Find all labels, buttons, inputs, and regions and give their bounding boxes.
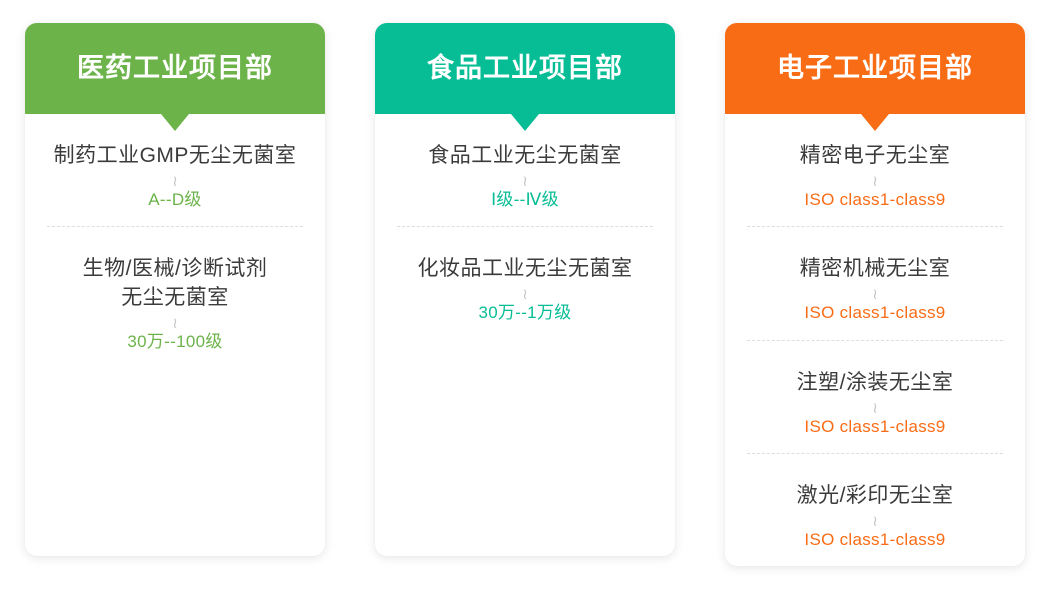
card-header: 电子工业项目部 [725,23,1025,114]
squiggle-separator-icon: ≀ [747,401,1003,415]
project-department-card-group: 医药工业项目部制药工业GMP无尘无菌室≀A--D级生物/医械/诊断试剂无尘无菌室… [0,0,1050,600]
cleanroom-entry-title: 食品工业无尘无菌室 [397,142,653,171]
department-card[interactable]: 电子工业项目部精密电子无尘室≀ISO class1-class9精密机械无尘室≀… [725,23,1025,566]
cleanroom-entry-grade: ISO class1-class9 [747,530,1003,550]
cleanroom-entry[interactable]: 化妆品工业无尘无菌室≀30万--1万级 [397,226,653,339]
squiggle-separator-icon: ≀ [47,316,303,330]
cleanroom-entry[interactable]: 精密机械无尘室≀ISO class1-class9 [747,226,1003,339]
card-header-title: 医药工业项目部 [77,55,273,82]
card-body: 制药工业GMP无尘无菌室≀A--D级生物/医械/诊断试剂无尘无菌室≀30万--1… [25,114,325,556]
department-card[interactable]: 食品工业项目部食品工业无尘无菌室≀Ⅰ级--Ⅳ级化妆品工业无尘无菌室≀30万--1… [375,23,675,556]
cleanroom-entry-title: 化妆品工业无尘无菌室 [397,255,653,284]
squiggle-separator-icon: ≀ [747,174,1003,188]
cleanroom-entry[interactable]: 生物/医械/诊断试剂无尘无菌室≀30万--100级 [47,226,303,368]
card-body: 食品工业无尘无菌室≀Ⅰ级--Ⅳ级化妆品工业无尘无菌室≀30万--1万级 [375,114,675,556]
cleanroom-entry-grade: 30万--1万级 [397,303,653,323]
card-header-title: 电子工业项目部 [777,55,973,82]
squiggle-separator-icon: ≀ [47,174,303,188]
cleanroom-entry-title: 注塑/涂装无尘室 [747,369,1003,398]
cleanroom-entry-title: 激光/彩印无尘室 [747,482,1003,511]
cleanroom-entry[interactable]: 注塑/涂装无尘室≀ISO class1-class9 [747,340,1003,453]
cleanroom-entry-grade: Ⅰ级--Ⅳ级 [397,190,653,210]
card-header: 食品工业项目部 [375,23,675,114]
card-body: 精密电子无尘室≀ISO class1-class9精密机械无尘室≀ISO cla… [725,114,1025,566]
header-pointer-triangle-icon [161,114,189,131]
card-header: 医药工业项目部 [25,23,325,114]
squiggle-separator-icon: ≀ [397,174,653,188]
squiggle-separator-icon: ≀ [747,287,1003,301]
cleanroom-entry-grade: A--D级 [47,190,303,210]
squiggle-separator-icon: ≀ [747,514,1003,528]
department-card[interactable]: 医药工业项目部制药工业GMP无尘无菌室≀A--D级生物/医械/诊断试剂无尘无菌室… [25,23,325,556]
cleanroom-entry[interactable]: 激光/彩印无尘室≀ISO class1-class9 [747,453,1003,566]
cleanroom-entry-title: 精密机械无尘室 [747,255,1003,284]
cleanroom-entry-grade: ISO class1-class9 [747,190,1003,210]
cleanroom-entry-title: 生物/医械/诊断试剂无尘无菌室 [47,255,303,313]
cleanroom-entry-title: 精密电子无尘室 [747,142,1003,171]
header-pointer-triangle-icon [861,114,889,131]
cleanroom-entry-grade: 30万--100级 [47,332,303,352]
card-header-title: 食品工业项目部 [427,55,623,82]
cleanroom-entry-title: 制药工业GMP无尘无菌室 [47,142,303,171]
header-pointer-triangle-icon [511,114,539,131]
cleanroom-entry-grade: ISO class1-class9 [747,417,1003,437]
cleanroom-entry-grade: ISO class1-class9 [747,303,1003,323]
squiggle-separator-icon: ≀ [397,287,653,301]
